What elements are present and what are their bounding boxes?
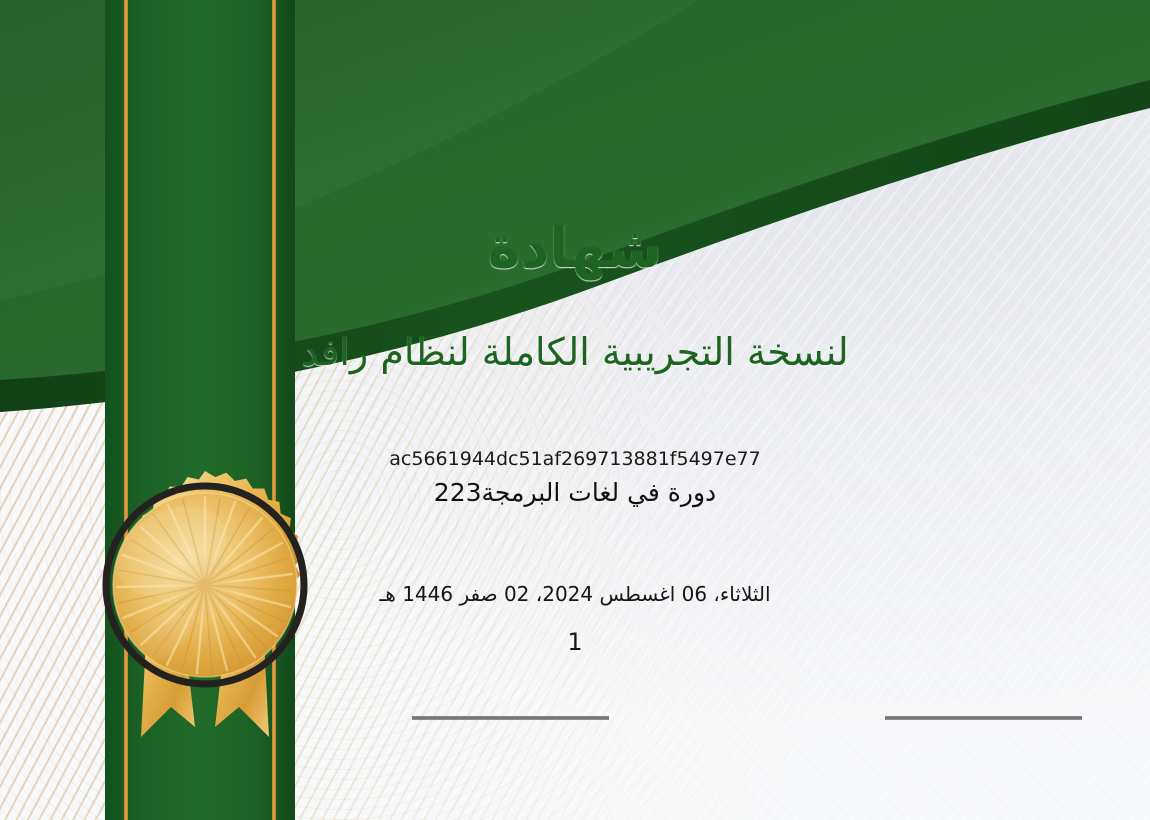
certificate-document: شهادة لنسخة التجريبية الكاملة لنظام رافد… bbox=[0, 0, 1150, 820]
page-title: شهادة bbox=[0, 216, 1150, 281]
course-name: دورة في لغات البرمجة223 bbox=[0, 478, 1150, 507]
signature-line-right bbox=[885, 716, 1082, 720]
verification-hash: ac5661944dc51af269713881f5497e77 bbox=[0, 448, 1150, 470]
issue-date: الثلاثاء، 06 اغسطس 2024، 02 صفر 1446 هـ bbox=[0, 582, 1150, 606]
signature-line-left bbox=[412, 716, 609, 720]
certificate-subtitle: لنسخة التجريبية الكاملة لنظام رافد bbox=[0, 330, 1150, 374]
serial-number: 1 bbox=[0, 628, 1150, 656]
